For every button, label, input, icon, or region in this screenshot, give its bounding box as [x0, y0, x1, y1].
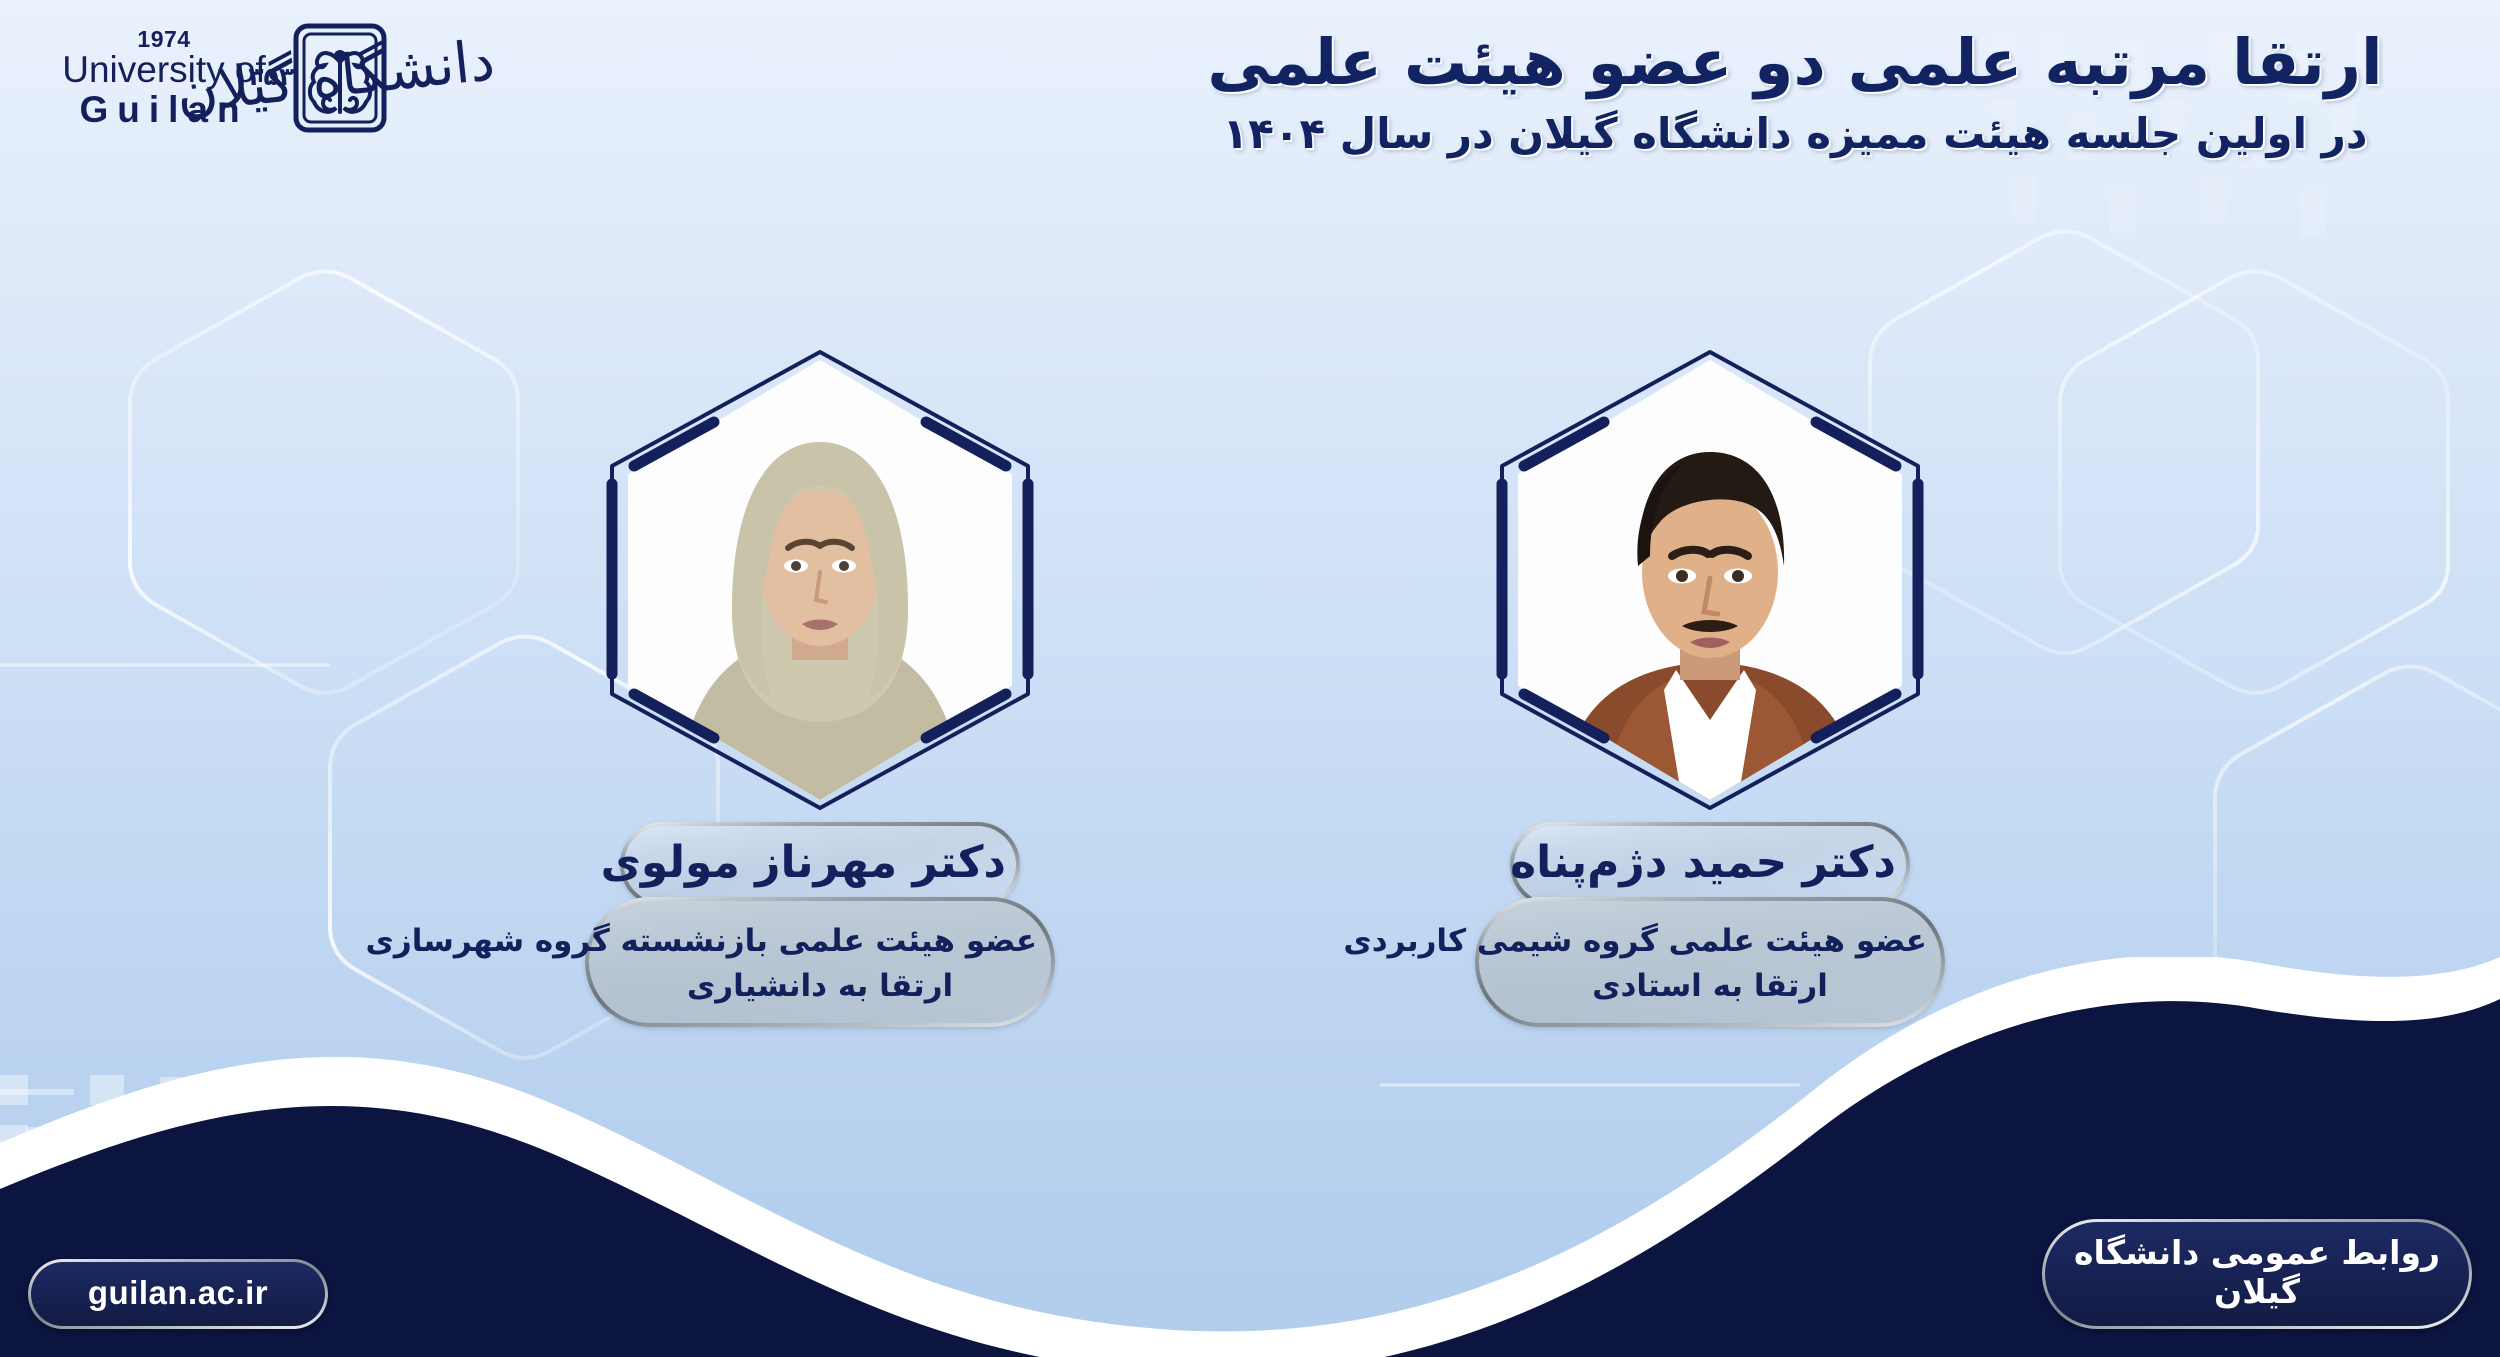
hexagon-photo-frame [1510, 360, 1910, 800]
public-relations-badge: روابط عمومی دانشگاه گیلان [2042, 1219, 2472, 1329]
person-name-badge: دکتر حمید دژم‌پناه [1510, 822, 1910, 907]
hexagon-photo-frame [620, 360, 1020, 800]
person-card-mehrnaz-molavi: دکتر مهرناز مولوی عضو هیئت علمی بازنشسته… [470, 360, 1170, 1027]
person-name-badge: دکتر مهرناز مولوی [620, 822, 1020, 907]
person-card-hamid-dezhampanah: دکتر حمید دژم‌پناه عضو هیئت علمی گروه شی… [1360, 360, 2060, 1027]
page-subtitle: در اولین جلسه هیئت ممیزه دانشگاه گیلان د… [1130, 109, 2460, 159]
poster-canvas: 1974 University of Guilan ۱۳۵۳ دانشگاه گ… [0, 0, 2500, 1357]
logo-persian-text: ۱۳۵۳ دانشگاه گیلان [234, 14, 494, 139]
portrait-photo-hamid-dezhampanah [1510, 360, 1910, 800]
university-logo: 1974 University of Guilan ۱۳۵۳ دانشگاه گ… [30, 8, 500, 143]
page-title: ارتقا مرتبه علمی دو عضو هیئت علمی [1130, 26, 2460, 100]
header-titles: ارتقا مرتبه علمی دو عضو هیئت علمی در اول… [1130, 26, 2460, 160]
portrait-photo-mehrnaz-molavi [620, 360, 1020, 800]
website-link-badge[interactable]: guilan.ac.ir [28, 1259, 328, 1329]
